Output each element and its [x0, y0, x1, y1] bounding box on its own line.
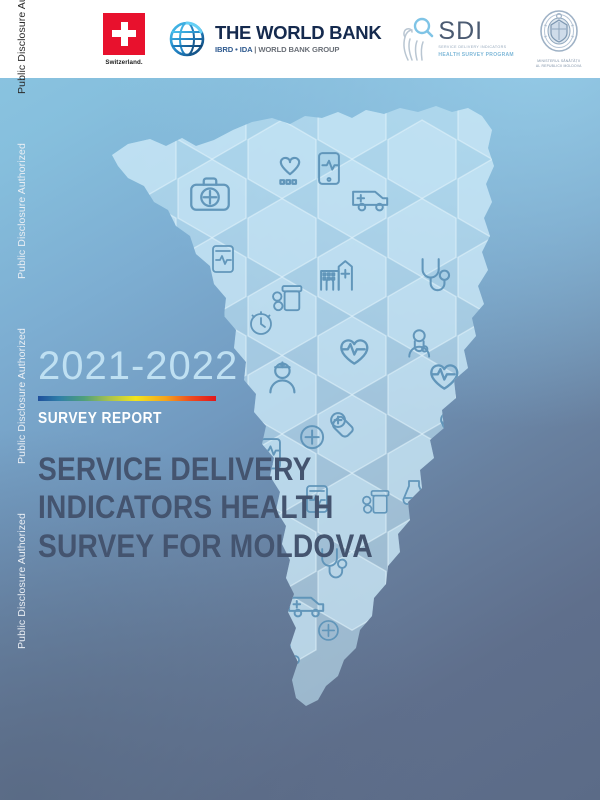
public-disclosure-stamp-column: Public Disclosure Authorized Public Disc…: [0, 0, 26, 800]
sdi-fullname: SERVICE DELIVERY INDICATORS: [438, 45, 513, 49]
page-title-line-1: SERVICE DELIVERY: [38, 450, 328, 488]
gradient-rule: [38, 396, 216, 401]
swiss-cooperation-logo: Switzerland.: [96, 13, 152, 66]
world-bank-title: THE WORLD BANK: [215, 24, 381, 43]
page-title-line-2: INDICATORS HEALTH: [38, 488, 328, 526]
cover-title-block: 2021-2022 SURVEY REPORT SERVICE DELIVERY…: [38, 346, 368, 565]
public-disclosure-stamp: Public Disclosure Authorized: [16, 126, 28, 296]
public-disclosure-stamp: Public Disclosure Authorized: [16, 496, 28, 666]
world-bank-divider: |: [254, 45, 256, 54]
public-disclosure-stamp: Public Disclosure Authorized: [16, 311, 28, 481]
world-bank-wordmark: THE WORLD BANK IBRD • IDA | WORLD BANK G…: [215, 24, 381, 55]
report-kicker: SURVEY REPORT: [38, 410, 322, 428]
moldova-ministry-seal-icon: [538, 9, 580, 57]
moldova-ministry-label: MINISTERUL SĂNĂTĂȚII AL REPUBLICII MOLDO…: [536, 59, 582, 69]
sdi-logo: SDI SERVICE DELIVERY INDICATORS HEALTH S…: [399, 16, 513, 62]
page-title-line-3: SURVEY FOR MOLDOVA: [38, 527, 328, 565]
logo-row: Switzerland.: [0, 0, 600, 78]
world-bank-subtitle: IBRD • IDA | WORLD BANK GROUP: [215, 45, 381, 54]
report-year: 2021-2022: [38, 346, 368, 386]
swiss-logo-label: Switzerland.: [105, 59, 142, 66]
world-bank-logo: THE WORLD BANK IBRD • IDA | WORLD BANK G…: [166, 18, 381, 60]
page-title: SERVICE DELIVERY INDICATORS HEALTH SURVE…: [38, 450, 328, 565]
sdi-wordmark: SDI SERVICE DELIVERY INDICATORS HEALTH S…: [438, 20, 513, 59]
report-cover-page: 2021-2022 SURVEY REPORT SERVICE DELIVERY…: [0, 0, 600, 800]
public-disclosure-stamp: Public Disclosure Authorized: [16, 0, 28, 111]
sdi-hand-magnifier-icon: [399, 16, 435, 62]
world-bank-ibrd-ida: IBRD • IDA: [215, 45, 252, 54]
swiss-flag-icon: [103, 13, 145, 55]
sdi-program-label: HEALTH SURVEY PROGRAM: [438, 52, 513, 58]
moldova-ministry-logo: MINISTERUL SĂNĂTĂȚII AL REPUBLICII MOLDO…: [536, 9, 582, 69]
world-bank-group-label: WORLD BANK GROUP: [258, 45, 339, 54]
moldova-ministry-label-line-2: AL REPUBLICII MOLDOVA: [536, 64, 582, 69]
sdi-acronym: SDI: [438, 20, 513, 44]
logo-header-band: Switzerland.: [0, 0, 600, 78]
world-bank-globe-icon: [166, 18, 208, 60]
